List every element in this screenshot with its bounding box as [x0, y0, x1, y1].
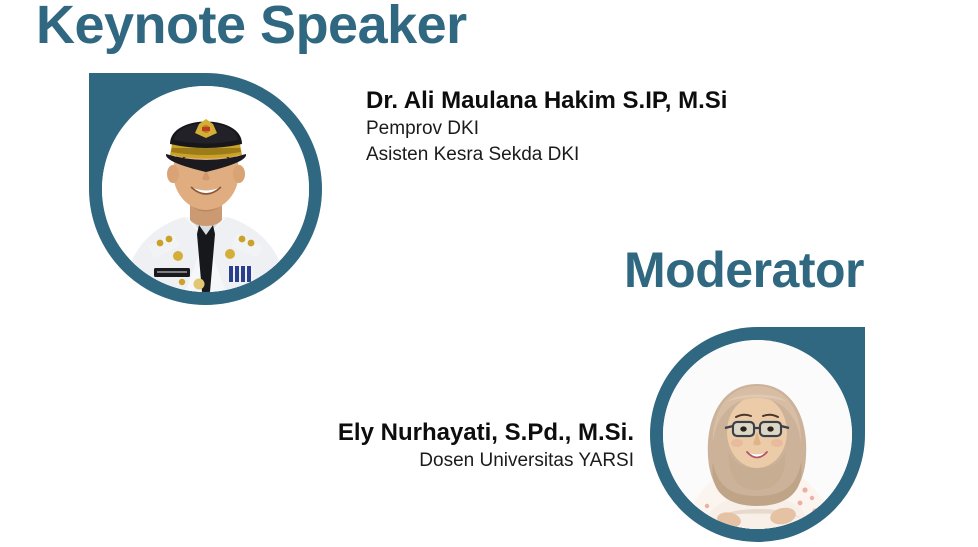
moderator-heading: Moderator: [624, 245, 864, 295]
keynote-speaker-portrait-image: [102, 86, 309, 292]
moderator-info: Ely Nurhayati, S.Pd., M.Si. Dosen Univer…: [338, 418, 634, 474]
keynote-photo-disc: [102, 86, 309, 292]
keynote-speaker-info: Dr. Ali Maulana Hakim S.IP, M.Si Pemprov…: [366, 86, 727, 168]
moderator-photo-disc: [663, 340, 852, 529]
keynote-speaker-photo-frame: [89, 73, 322, 305]
moderator-affiliation: Dosen Universitas YARSI: [338, 448, 634, 474]
moderator-photo-frame: [650, 327, 865, 542]
presentation-slide: Keynote Speaker: [0, 0, 978, 547]
keynote-speaker-role: Asisten Kesra Sekda DKI: [366, 142, 727, 168]
keynote-speaker-affiliation: Pemprov DKI: [366, 116, 727, 142]
keynote-speaker-name: Dr. Ali Maulana Hakim S.IP, M.Si: [366, 86, 727, 116]
moderator-name: Ely Nurhayati, S.Pd., M.Si.: [338, 418, 634, 448]
moderator-portrait-image: [663, 340, 852, 529]
keynote-speaker-heading: Keynote Speaker: [36, 0, 467, 52]
